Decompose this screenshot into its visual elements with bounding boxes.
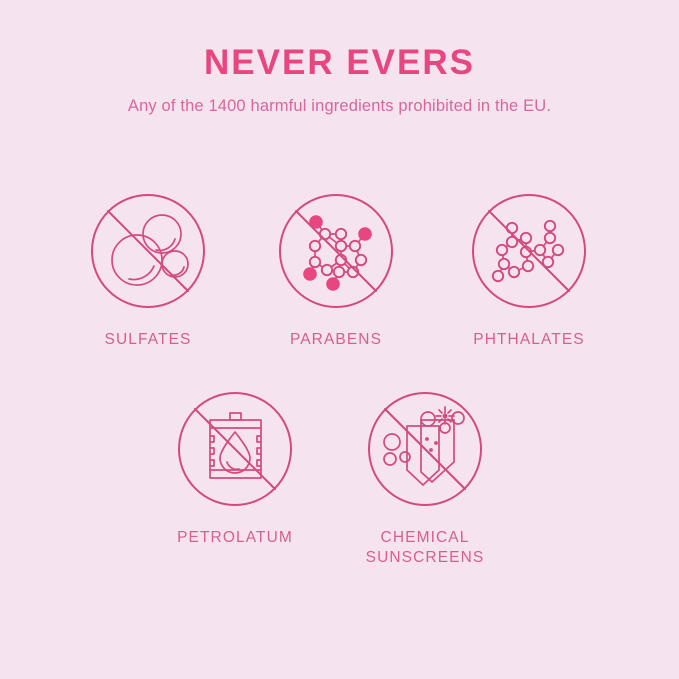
grid-item-phthalates[interactable]: PHTHALATES — [449, 192, 609, 350]
page-subtitle: Any of the 1400 harmful ingredients proh… — [0, 97, 679, 117]
never-evers-grid: SULFATES — [0, 192, 679, 588]
grid-item-label: CHEMICAL SUNSCREENS — [345, 528, 505, 568]
grid-item-label: PARABENS — [256, 330, 416, 350]
grid-item-sulfates[interactable]: SULFATES — [68, 192, 228, 350]
no-petrolatum-barrel-icon — [176, 390, 294, 508]
grid-item-parabens[interactable]: PARABENS — [256, 192, 416, 350]
grid-item-label: PETROLATUM — [155, 528, 315, 548]
grid-row-1: SULFATES — [0, 192, 679, 390]
grid-item-label: SULFATES — [68, 330, 228, 350]
grid-item-label: PHTHALATES — [449, 330, 609, 350]
never-evers-panel: NEVER EVERS Any of the 1400 harmful ingr… — [0, 0, 679, 679]
no-sulfates-bubbles-icon — [89, 192, 207, 310]
grid-item-chemical-sunscreens[interactable]: CHEMICAL SUNSCREENS — [345, 390, 505, 568]
header: NEVER EVERS Any of the 1400 harmful ingr… — [0, 0, 679, 116]
grid-item-petrolatum[interactable]: PETROLATUM — [155, 390, 315, 548]
grid-row-2: PETROLATUM — [0, 390, 679, 588]
no-phthalates-molecule-icon — [470, 192, 588, 310]
page-title: NEVER EVERS — [0, 44, 679, 83]
no-parabens-molecule-icon — [277, 192, 395, 310]
no-chemical-sunscreens-shield-icon — [366, 390, 484, 508]
